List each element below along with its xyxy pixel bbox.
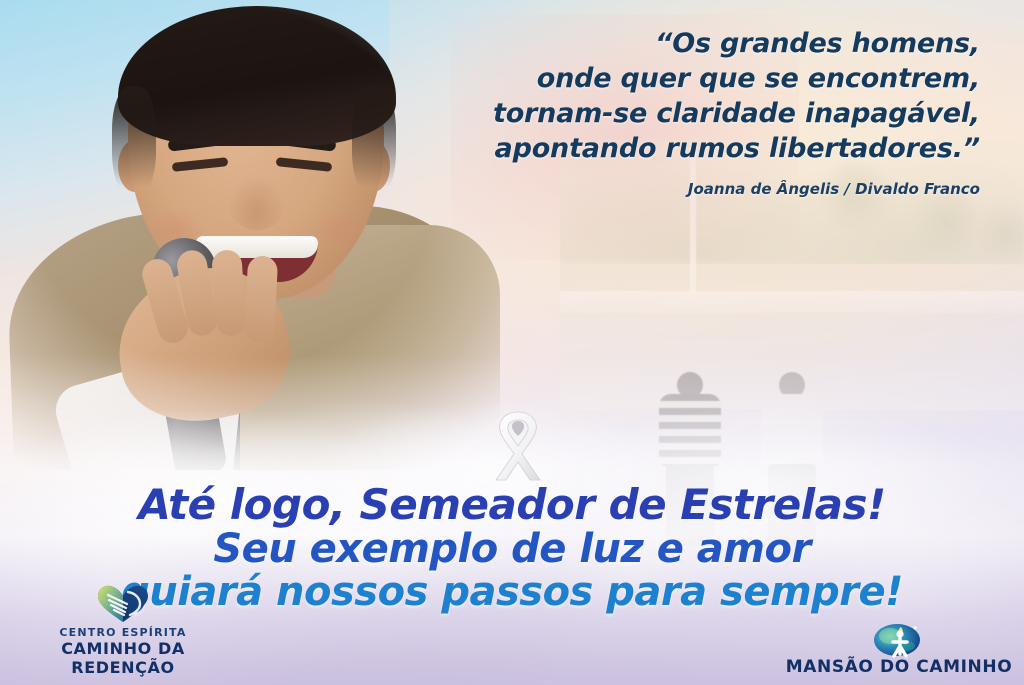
logo-right-line-1: MANSÃO DO CAMINHO: [784, 657, 1014, 677]
white-ribbon-svg: [476, 406, 560, 486]
portrait-hair-side: [352, 86, 396, 196]
quote-line-3: tornam-se claridade inapagável,: [420, 96, 980, 131]
logo-left-line-2: CAMINHO DA REDENÇÃO: [8, 639, 238, 677]
logo-mansao-do-caminho: MANSÃO DO CAMINHO: [784, 613, 1014, 677]
quote-block: “Os grandes homens, onde quer que se enc…: [420, 26, 980, 198]
logo-centro-espirita: CENTRO ESPÍRITA CAMINHO DA REDENÇÃO: [8, 582, 238, 677]
hands-heart-icon: [8, 582, 238, 624]
portrait-nose: [228, 176, 286, 230]
portrait-cheek: [312, 208, 368, 252]
quote-attribution: Joanna de Ângelis / Divaldo Franco: [420, 180, 980, 198]
headline-line-2: Seu exemplo de luz e amor: [0, 529, 1024, 570]
quote-line-2: onde quer que se encontrem,: [420, 61, 980, 96]
white-ribbon-icon: [476, 406, 560, 486]
quote-line-4: apontando rumos libertadores.”: [420, 131, 980, 166]
quote-line-1: “Os grandes homens,: [420, 26, 980, 61]
globe-figure-flame-svg: [870, 613, 928, 659]
figure-torso: [659, 394, 721, 466]
globe-figure-flame-icon: [784, 613, 1014, 655]
figure-torso: [761, 394, 823, 466]
memorial-poster: “Os grandes homens, onde quer que se enc…: [0, 0, 1024, 685]
headline-line-1: Até logo, Semeador de Estrelas!: [0, 484, 1024, 527]
logo-left-line-1: CENTRO ESPÍRITA: [8, 626, 238, 639]
portrait-hair-side: [112, 86, 156, 196]
portrait-finger: [211, 249, 247, 337]
hands-heart-svg: [94, 582, 152, 624]
portrait-finger: [244, 255, 278, 342]
